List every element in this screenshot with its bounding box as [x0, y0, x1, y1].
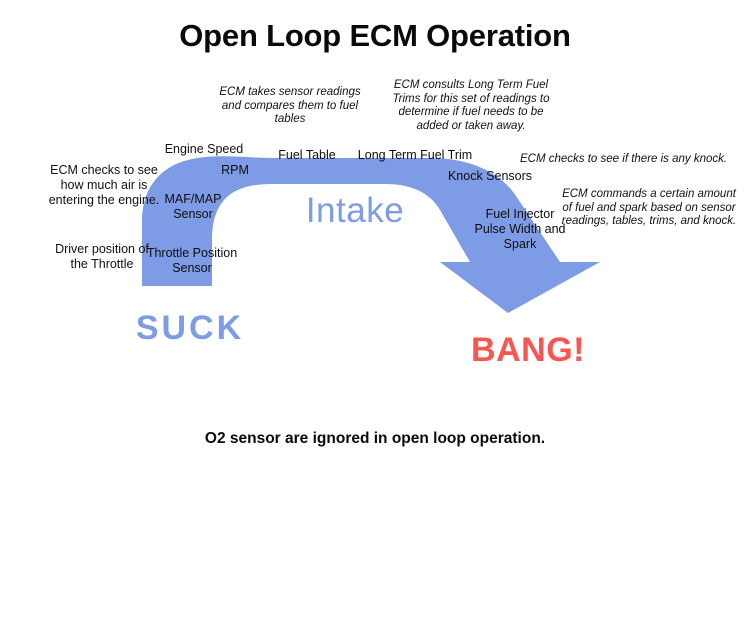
label-long-term-fuel-trim: Long Term Fuel Trim: [350, 148, 480, 163]
note-sensor-readings: ECM takes sensor readings and compares t…: [210, 86, 370, 127]
label-knock-sensors: Knock Sensors: [437, 169, 543, 184]
label-suck: SUCK: [90, 308, 290, 348]
label-bang: BANG!: [428, 330, 628, 370]
label-throttle-position-sensor: Throttle Position Sensor: [138, 246, 246, 276]
note-air-entering: ECM checks to see how much air is enteri…: [48, 163, 160, 207]
label-maf-map-sensor: MAF/MAP Sensor: [147, 192, 239, 222]
caption-o2-sensor: O2 sensor are ignored in open loop opera…: [0, 430, 750, 448]
diagram-canvas: Open Loop ECM Operation ECM checks to se…: [0, 0, 750, 638]
label-engine-speed: Engine Speed: [148, 142, 260, 157]
label-fuel-injector-pulse-width: Fuel Injector Pulse Width and Spark: [474, 207, 566, 251]
label-rpm: RPM: [200, 163, 270, 178]
note-ecm-commands: ECM commands a certain amount of fuel an…: [556, 188, 742, 229]
note-knock-check: ECM checks to see if there is any knock.: [520, 153, 740, 167]
note-long-term-fuel-trims: ECM consults Long Term Fuel Trims for th…: [390, 79, 552, 133]
label-intake: Intake: [255, 190, 455, 231]
label-fuel-table: Fuel Table: [262, 148, 352, 163]
